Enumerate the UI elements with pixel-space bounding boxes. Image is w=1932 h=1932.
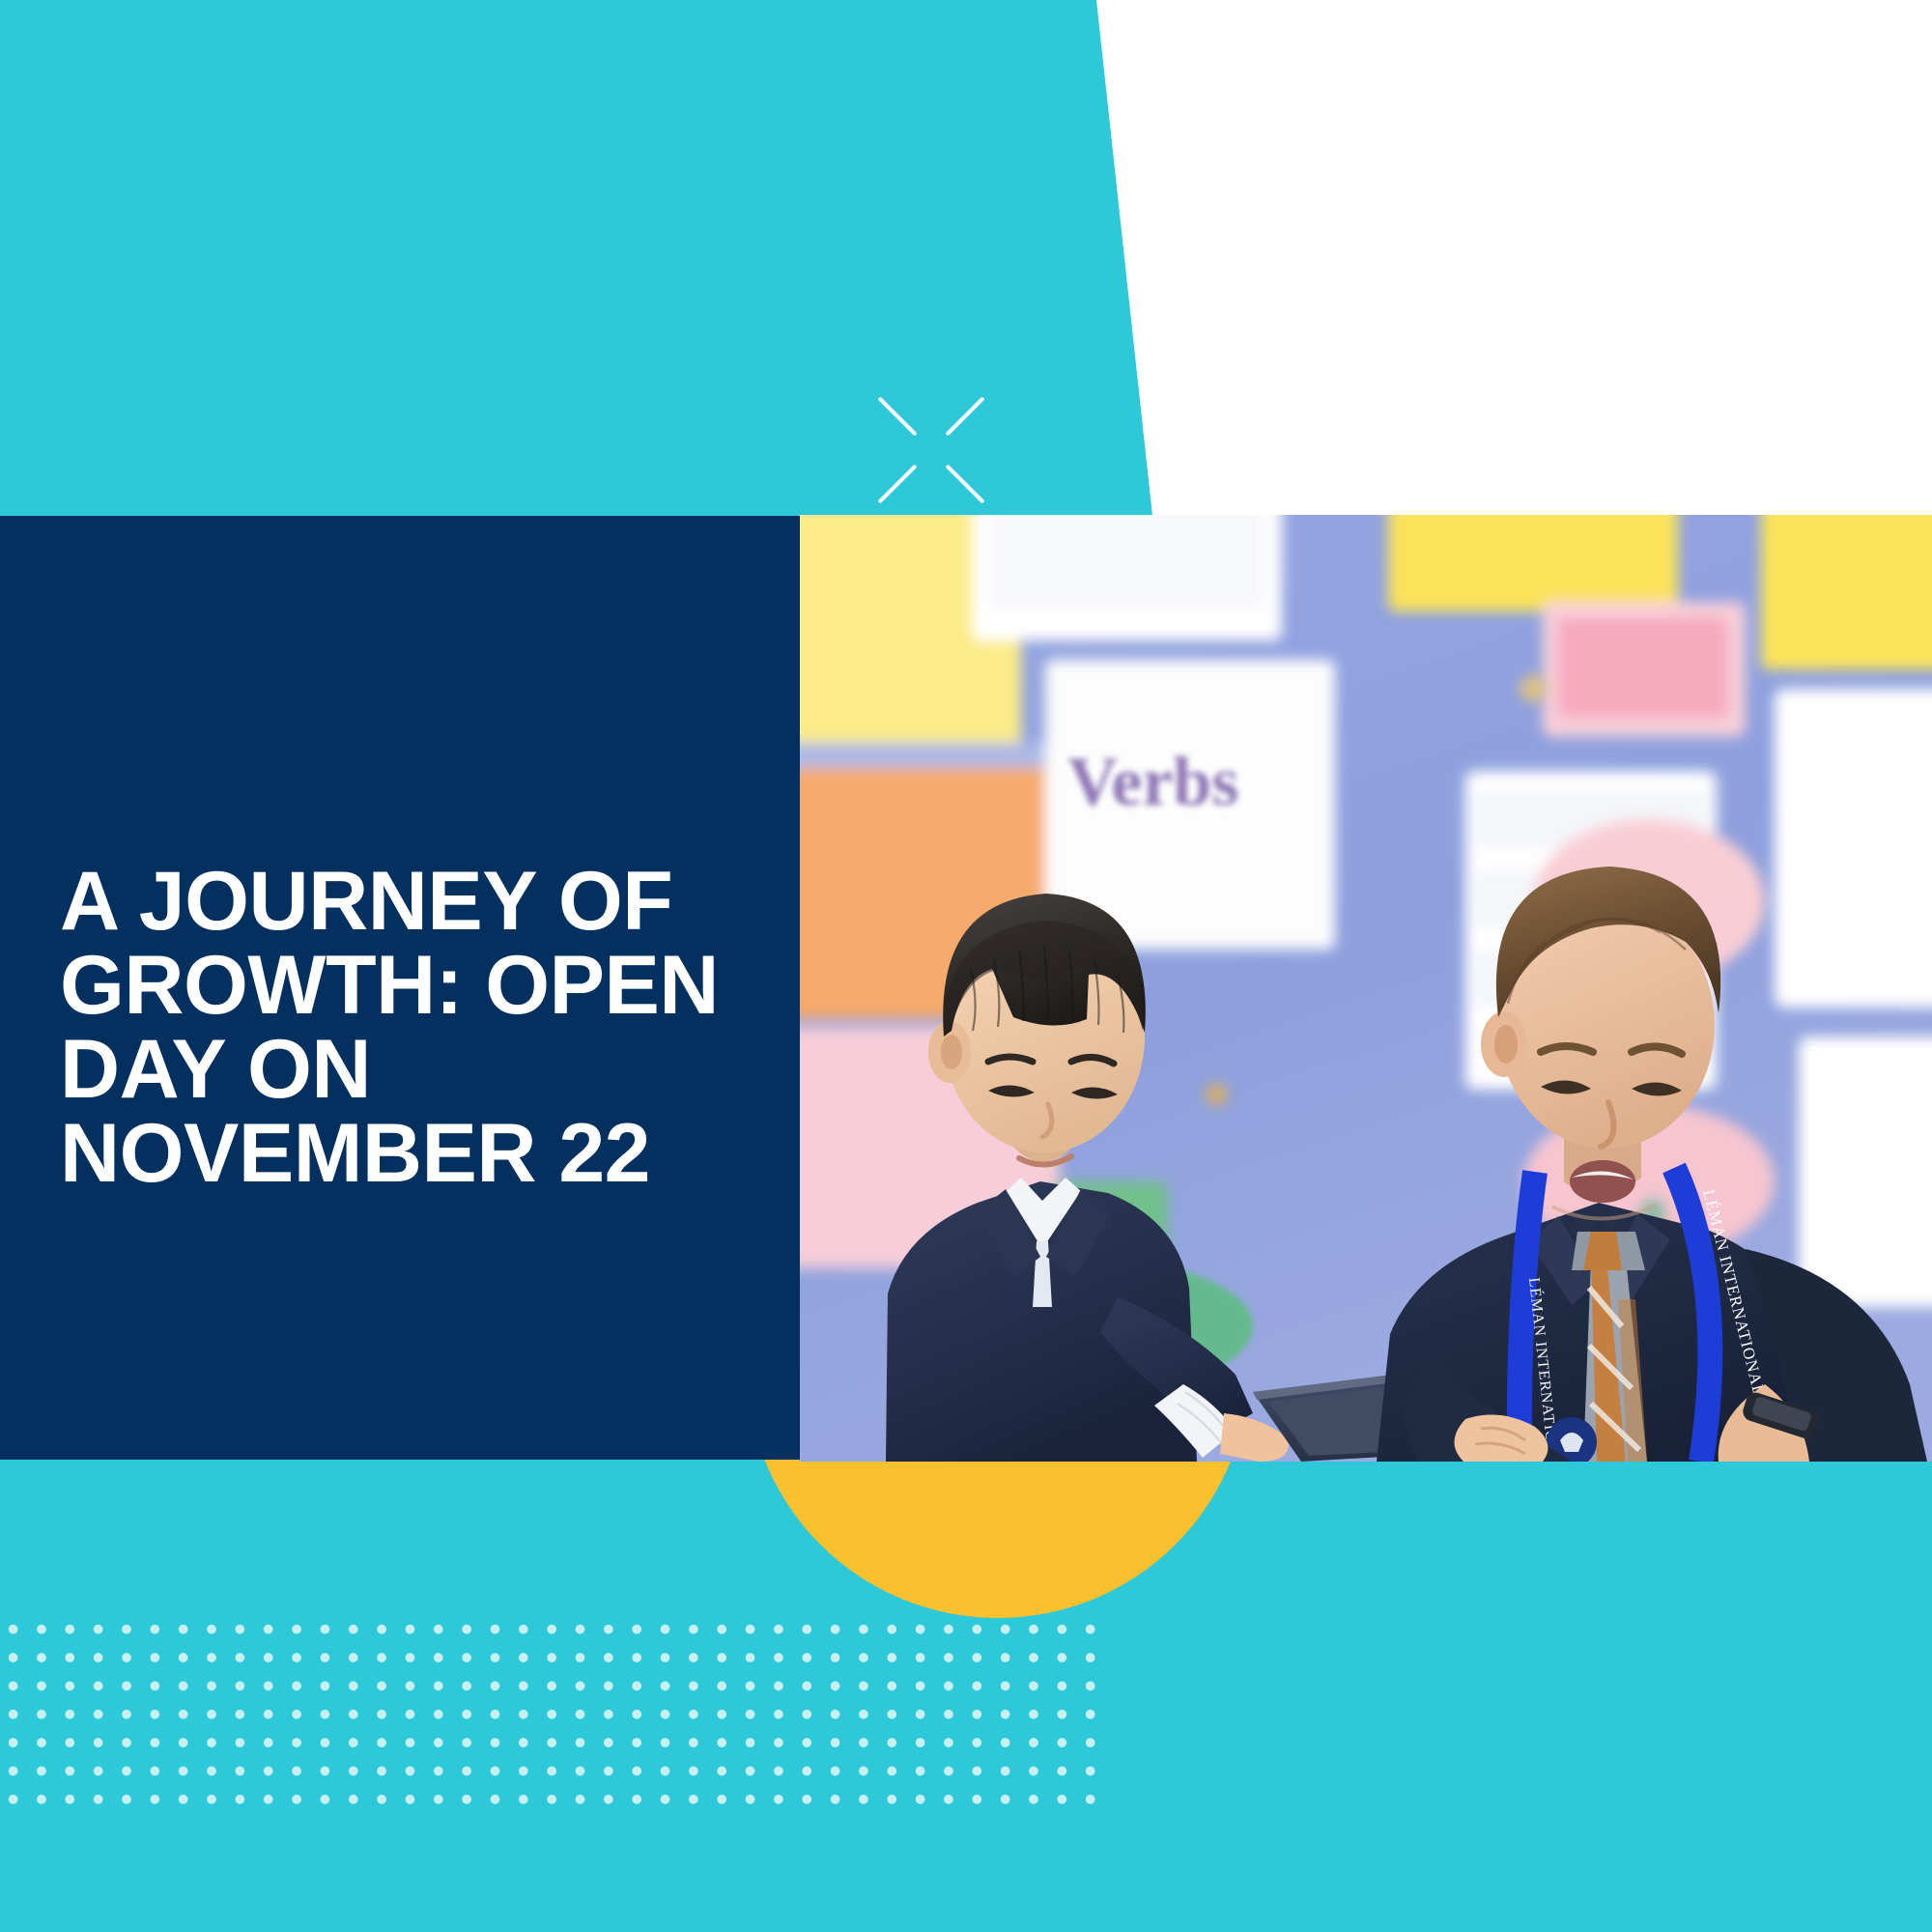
- x-cross-decoration: [869, 388, 993, 512]
- halftone-dot-grid: [8, 1624, 1101, 1817]
- classroom-photo: Verbs: [799, 515, 1932, 1462]
- page-title: A JOURNEY OF GROWTH: OPEN DAY ON NOVEMBE…: [60, 860, 775, 1196]
- x-cross-stroke-bottom-right: [945, 464, 984, 503]
- poster-canvas: Verbs: [0, 0, 1932, 1932]
- x-cross-stroke-bottom-left: [877, 464, 917, 503]
- classroom-photo-illustration: Verbs: [799, 515, 1932, 1462]
- x-cross-stroke-top-right: [945, 396, 984, 436]
- x-cross-stroke-top-left: [877, 396, 917, 436]
